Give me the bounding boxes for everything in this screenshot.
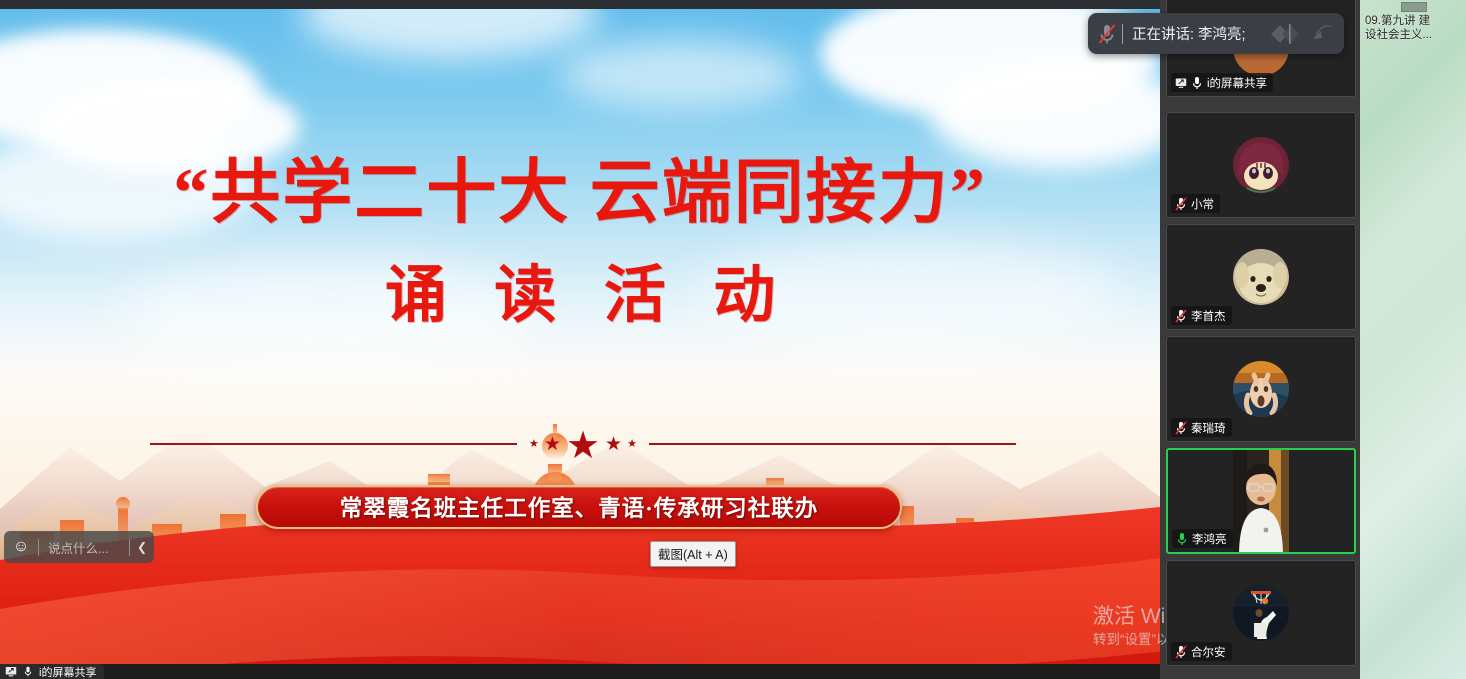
- participant-name: i的屏幕共享: [1207, 75, 1267, 91]
- participant-name-chip: 李首杰: [1171, 306, 1232, 325]
- slide-organizer-banner: 常翠霞名班主任工作室、青语·传承研习社联办: [256, 485, 902, 529]
- divider-rule-left: [150, 443, 517, 445]
- chevron-left-icon[interactable]: ❮: [130, 540, 154, 554]
- speaking-toast-text: 正在讲话: 李鸿亮;: [1132, 23, 1268, 44]
- taskbar: [0, 664, 1160, 679]
- scream-avatar-art: [1233, 361, 1289, 417]
- dog-avatar: [1233, 249, 1289, 305]
- girl-avatar-art: [1233, 137, 1289, 193]
- participant-sidebar[interactable]: i的屏幕共享: [1166, 0, 1356, 679]
- participant-name: 李鸿亮: [1192, 531, 1227, 547]
- desktop-file-icon[interactable]: 09.第九讲 建 设社会主义...: [1362, 2, 1466, 42]
- participant-name-chip: 小常: [1171, 194, 1220, 213]
- slide-title-block: “共学二十大 云端同接力” 诵 读 活 动: [0, 159, 1160, 327]
- slide-title-line2: 诵 读 活 动: [0, 265, 1160, 327]
- taskbar-share-label: i的屏幕共享: [39, 664, 96, 679]
- desktop-wallpaper: [1360, 0, 1466, 679]
- scream-avatar: [1233, 361, 1289, 417]
- star-icon: ★: [529, 439, 539, 450]
- participant-name: 小常: [1191, 196, 1214, 212]
- participant-name-chip: 秦瑞琦: [1171, 418, 1232, 437]
- participant-tile-active-speaker[interactable]: 李鸿亮: [1166, 448, 1356, 554]
- video-feed: [1233, 450, 1289, 552]
- desktop-file-label: 09.第九讲 建 设社会主义...: [1362, 14, 1466, 42]
- girl-avatar: [1233, 137, 1289, 193]
- return-arrow-icon[interactable]: [1312, 21, 1336, 47]
- slide-organizer-text: 常翠霞名班主任工作室、青语·传承研习社联办: [340, 491, 819, 523]
- basketball-avatar: [1233, 585, 1289, 641]
- microphone-on-icon: [1191, 76, 1203, 90]
- screen-share-icon: [5, 666, 17, 677]
- participant-tile[interactable]: 小常: [1166, 112, 1356, 218]
- video-feed-art: [1233, 450, 1289, 552]
- divider-stars: ★ ★ ★ ★ ★: [517, 425, 649, 463]
- microphone-muted-icon: [1175, 421, 1187, 435]
- collapse-arrows-icon[interactable]: [1268, 21, 1310, 47]
- divider-rule-right: [649, 443, 1016, 445]
- participant-name-chip: i的屏幕共享: [1171, 73, 1273, 92]
- cloud-shape: [560, 39, 800, 109]
- screen-share-icon: [1175, 76, 1187, 90]
- slide-title-line1: “共学二十大 云端同接力”: [0, 159, 1160, 229]
- share-top-bar: [0, 0, 1160, 9]
- basketball-avatar-art: [1233, 585, 1289, 641]
- microphone-muted-icon: [1175, 309, 1187, 323]
- dog-avatar-art: [1233, 249, 1289, 305]
- microphone-muted-icon: [1096, 22, 1118, 46]
- participant-tile[interactable]: 合尔安: [1166, 560, 1356, 666]
- star-icon: ★: [544, 435, 561, 454]
- participant-tile[interactable]: 李首杰: [1166, 224, 1356, 330]
- toast-divider: [1122, 24, 1123, 44]
- microphone-icon: [22, 666, 34, 677]
- toast-actions[interactable]: [1268, 21, 1336, 47]
- participant-name: 李首杰: [1191, 308, 1226, 324]
- star-icon: ★: [566, 427, 600, 465]
- chat-input-bar[interactable]: ☺ 说点什么... ❮: [4, 531, 154, 563]
- file-thumbnail: [1401, 2, 1427, 12]
- microphone-muted-icon: [1175, 197, 1187, 211]
- microphone-muted-icon: [1175, 645, 1187, 659]
- participant-name-chip: 李鸿亮: [1172, 529, 1233, 548]
- participant-tile[interactable]: 秦瑞琦: [1166, 336, 1356, 442]
- screen: 09.第九讲 建 设社会主义...: [0, 0, 1466, 679]
- smiley-icon[interactable]: ☺: [4, 538, 38, 556]
- star-icon: ★: [627, 439, 637, 450]
- taskbar-share-chip[interactable]: i的屏幕共享: [0, 664, 104, 679]
- star-icon: ★: [605, 435, 622, 454]
- star-divider: ★ ★ ★ ★ ★: [150, 429, 1016, 459]
- participant-name-chip: 合尔安: [1171, 642, 1232, 661]
- microphone-on-icon: [1176, 532, 1188, 546]
- participant-name: 合尔安: [1191, 644, 1226, 660]
- snip-tooltip: 截图(Alt + A): [650, 541, 736, 567]
- speaking-toast[interactable]: 正在讲话: 李鸿亮;: [1088, 13, 1344, 54]
- shared-slide[interactable]: “共学二十大 云端同接力” 诵 读 活 动 ★ ★ ★ ★ ★ 常翠霞名班主任工…: [0, 9, 1160, 664]
- chat-input-placeholder[interactable]: 说点什么...: [39, 538, 129, 557]
- participant-name: 秦瑞琦: [1191, 420, 1226, 436]
